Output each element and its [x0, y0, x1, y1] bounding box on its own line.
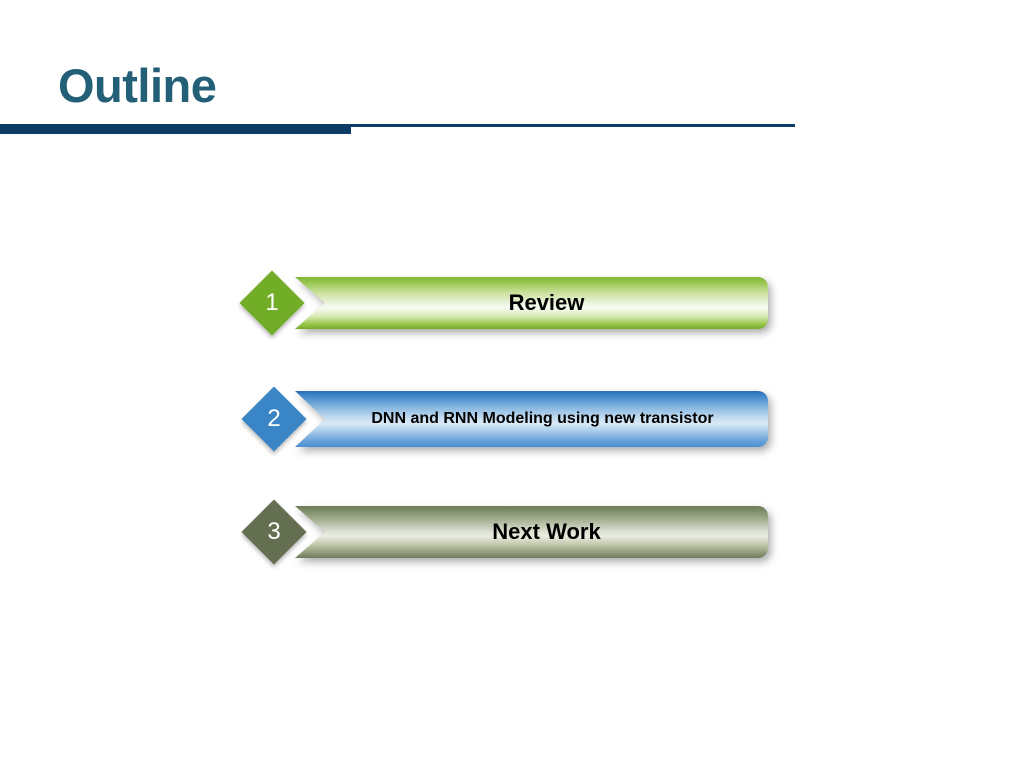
banner-fill-3 [295, 506, 768, 558]
header-rule-thick [0, 124, 351, 134]
banner-fill-2 [295, 391, 768, 447]
outline-number-badge-1[interactable]: 1 [239, 270, 304, 335]
outline-banner-2[interactable]: DNN and RNN Modeling using new transisto… [295, 391, 768, 447]
outline-number-1: 1 [249, 280, 295, 326]
outline-number-badge-3[interactable]: 3 [241, 499, 306, 564]
outline-item-3[interactable]: Next Work 3 [0, 506, 1024, 558]
page-title: Outline [58, 60, 216, 112]
outline-item-2[interactable]: DNN and RNN Modeling using new transisto… [0, 391, 1024, 447]
banner-fill-1 [295, 277, 768, 329]
outline-banner-3[interactable]: Next Work [295, 506, 768, 558]
outline-number-3: 3 [251, 509, 297, 555]
outline-banner-1[interactable]: Review [295, 277, 768, 329]
outline-item-1[interactable]: Review 1 [0, 277, 1024, 329]
header-rule-thin [351, 124, 795, 127]
slide-canvas: Outline Review 1 DNN and RNN Modeling us… [0, 0, 1024, 768]
outline-number-badge-2[interactable]: 2 [241, 386, 306, 451]
outline-number-2: 2 [251, 396, 297, 442]
